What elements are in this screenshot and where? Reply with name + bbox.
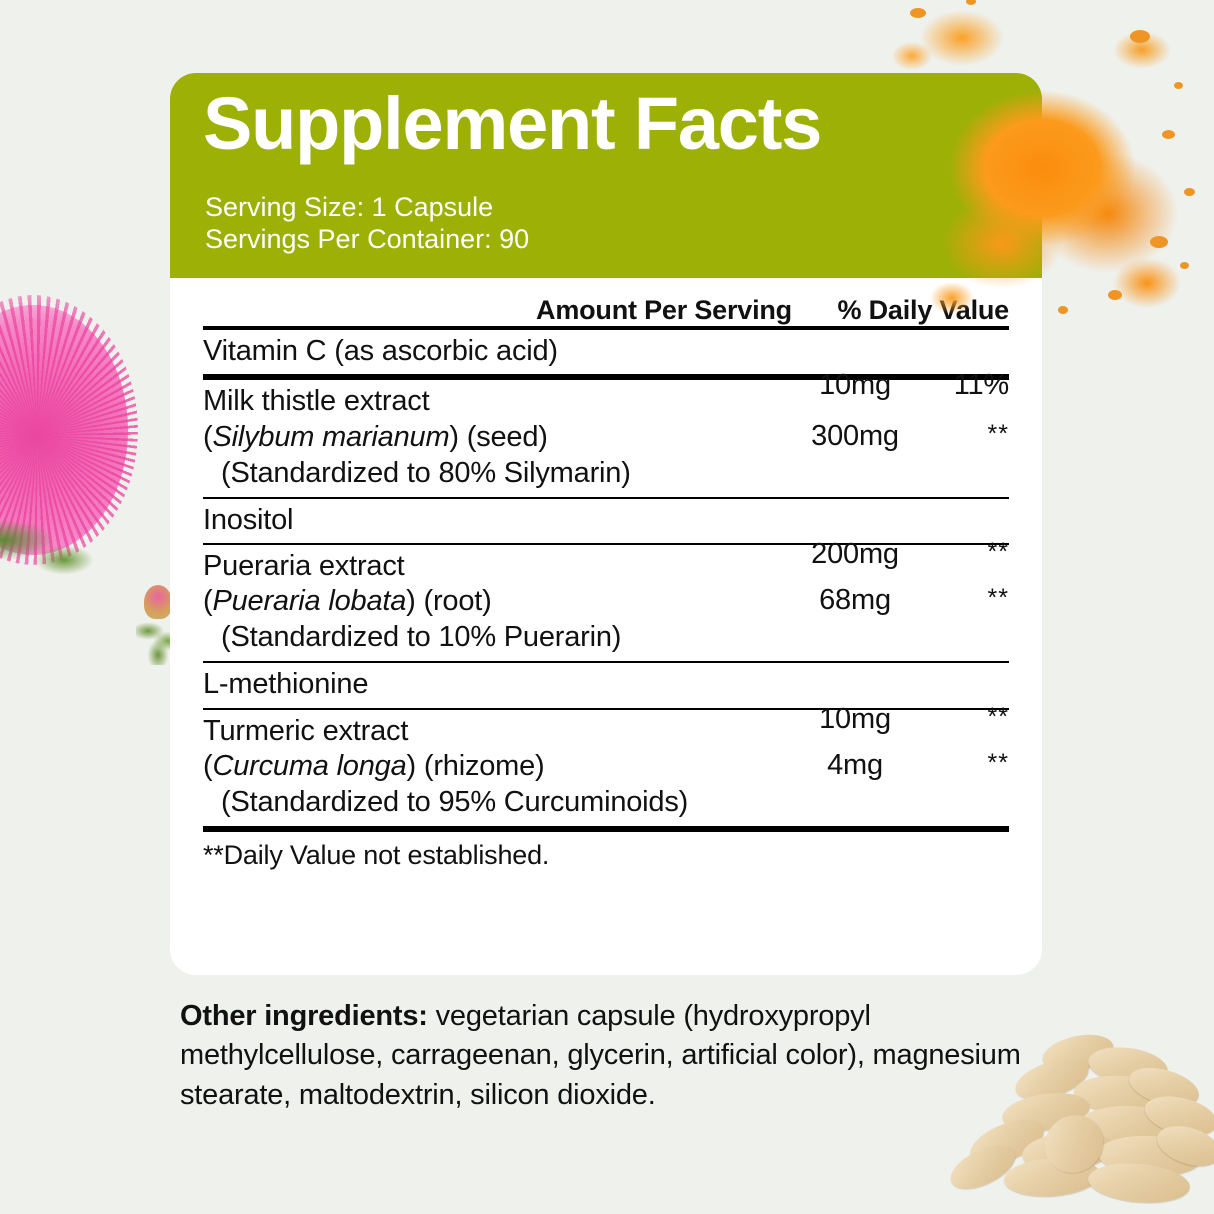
milk-thistle-flower-image	[0, 295, 138, 625]
row-plant-part: (rhizome)	[424, 750, 545, 782]
row-standardized: (Standardized to 80% Silymarin)	[203, 456, 1009, 492]
table-row: Vitamin C (as ascorbic acid) 10mg 11%	[203, 330, 1009, 374]
supplement-facts-header: Supplement Facts Serving Size: 1 Capsule…	[170, 73, 1042, 278]
row-plant-part: (seed)	[467, 421, 548, 453]
row-scientific-name: Silybum marianum	[212, 421, 449, 453]
other-ingredients-text: Other ingredients: vegetarian capsule (h…	[180, 997, 1060, 1115]
page-title: Supplement Facts	[203, 87, 821, 161]
row-standardized: (Standardized to 10% Puerarin)	[203, 620, 1009, 656]
table-row: Pueraria extract 68mg ** (Pueraria lobat…	[203, 545, 1009, 661]
row-scientific-name: Pueraria lobata	[212, 585, 406, 617]
table-row: Milk thistle extract 300mg ** (Silybum m…	[203, 380, 1009, 496]
serving-size-text: Serving Size: 1 Capsule	[205, 191, 493, 224]
thistle-spikes	[0, 295, 138, 565]
row-name: L-methionine	[203, 667, 368, 702]
daily-value-footnote: **Daily Value not established.	[203, 832, 1009, 871]
row-daily-value: **	[809, 749, 1009, 778]
other-ingredients-label: Other ingredients:	[180, 1000, 428, 1032]
supplement-facts-card: Supplement Facts Serving Size: 1 Capsule…	[170, 73, 1042, 975]
column-header-daily-value: % Daily Value	[809, 295, 1009, 326]
thistle-bloom	[0, 305, 128, 555]
supplement-facts-table: Amount Per Serving % Daily Value Vitamin…	[170, 278, 1042, 871]
table-row: L-methionine 10mg **	[203, 663, 1009, 707]
row-name: Turmeric extract	[203, 714, 408, 749]
thistle-base-leaves	[0, 510, 94, 600]
supplement-label-page: Supplement Facts Serving Size: 1 Capsule…	[0, 0, 1214, 1214]
servings-per-container-text: Servings Per Container: 90	[205, 223, 529, 256]
row-daily-value: **	[809, 420, 1009, 449]
row-name: Vitamin C (as ascorbic acid)	[203, 334, 558, 369]
row-name: Pueraria extract	[203, 549, 405, 584]
table-row: Inositol 200mg **	[203, 499, 1009, 543]
row-scientific-name: Curcuma longa	[212, 750, 406, 782]
bud-head	[144, 585, 172, 619]
row-name: Inositol	[203, 503, 293, 538]
row-name: Milk thistle extract	[203, 384, 429, 419]
table-row: Turmeric extract 4mg ** (Curcuma longa) …	[203, 710, 1009, 826]
row-standardized: (Standardized to 95% Curcuminoids)	[203, 785, 1009, 821]
table-column-headers: Amount Per Serving % Daily Value	[203, 278, 1009, 326]
row-daily-value: **	[809, 584, 1009, 613]
column-header-amount: Amount Per Serving	[519, 295, 809, 326]
row-plant-part: (root)	[423, 585, 491, 617]
